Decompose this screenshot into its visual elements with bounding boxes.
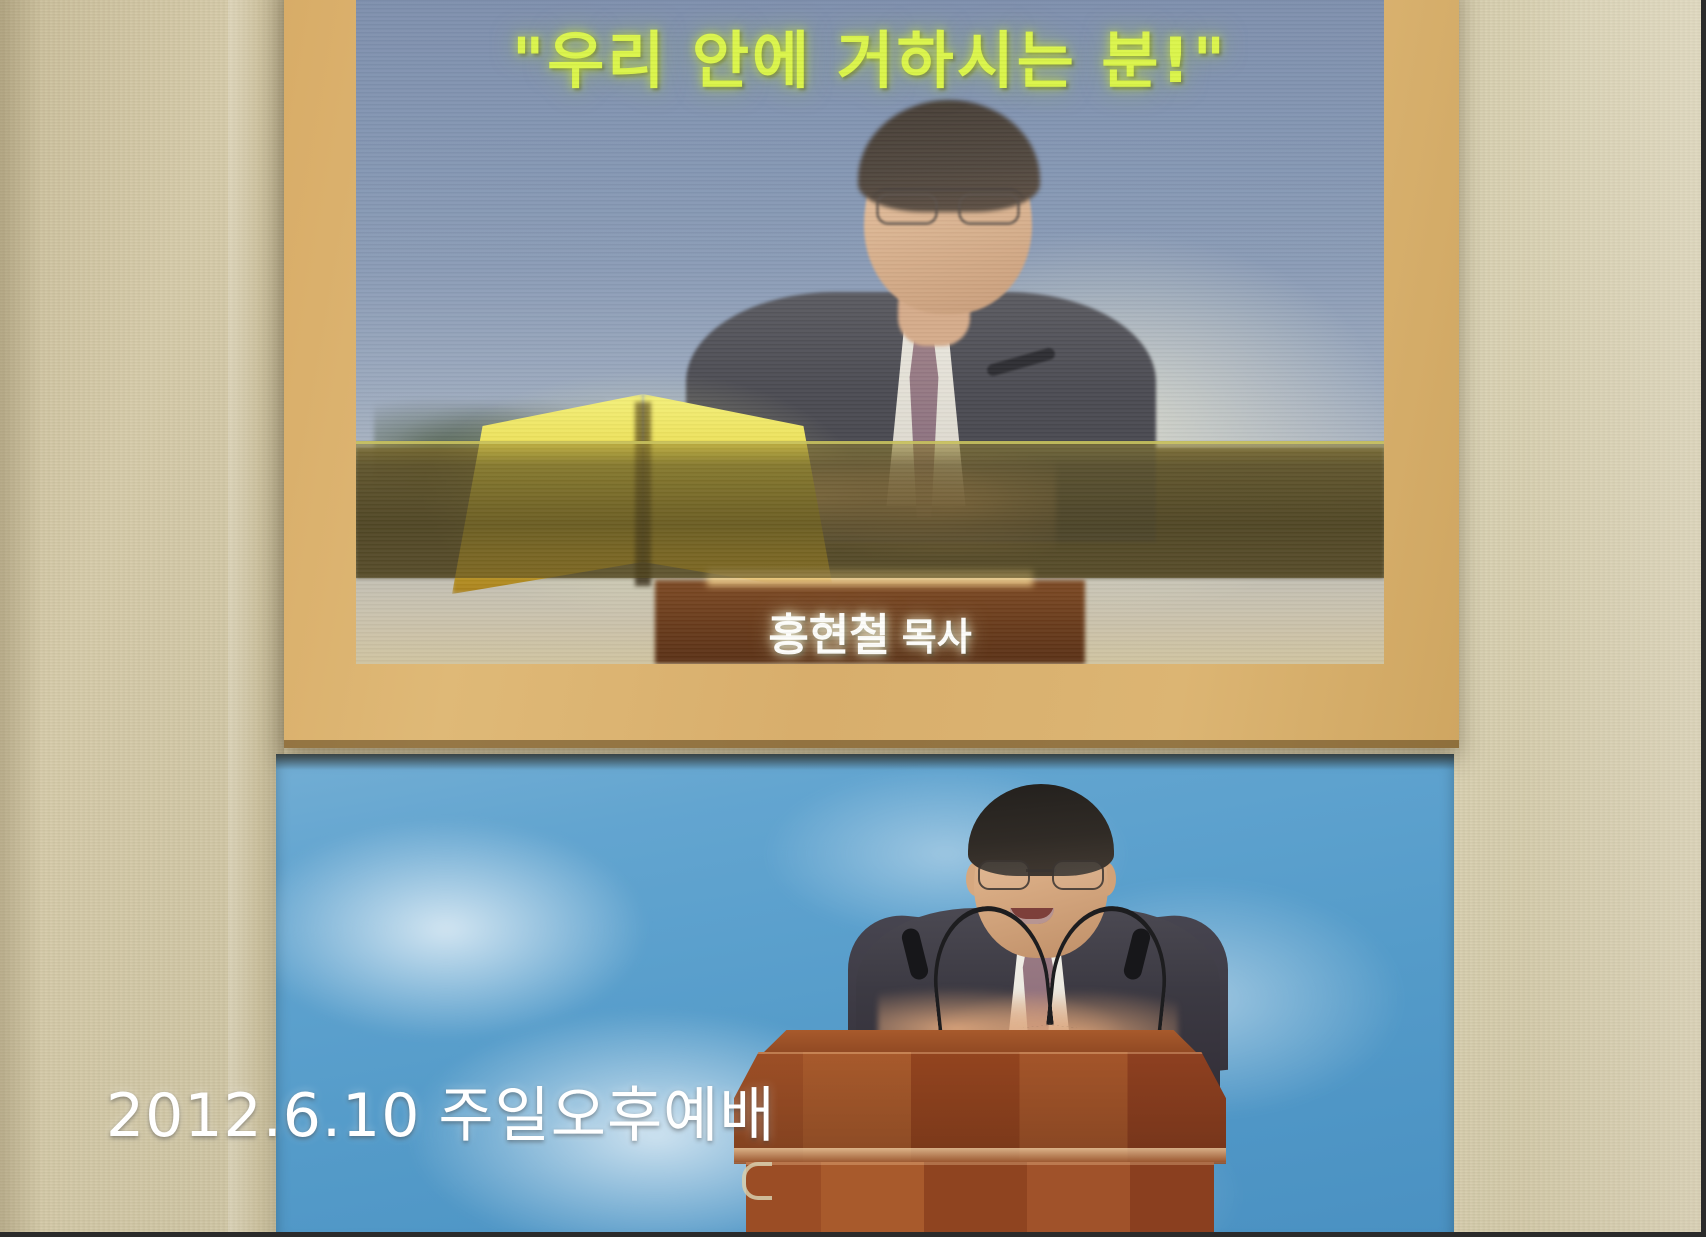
podium-side-hook (742, 1162, 772, 1200)
glasses-icon (872, 188, 1024, 221)
podium-base (746, 1162, 1214, 1237)
church-service-photo: "우리 안에 거하시는 분!" 홍현철목사 (0, 0, 1706, 1237)
projection-screen: "우리 안에 거하시는 분!" 홍현철목사 (356, 0, 1384, 664)
photo-caption: 2012.6.10주일오후예배 (106, 1086, 776, 1146)
podium-front-panel (734, 1052, 1226, 1162)
sermon-title: "우리 안에 거하시는 분!" (356, 30, 1384, 92)
projection-screen-frame: "우리 안에 거하시는 분!" 홍현철목사 (284, 0, 1459, 748)
wall-left-shadow (0, 0, 42, 1232)
wooden-podium (734, 1030, 1226, 1237)
wall-right-highlight (1521, 0, 1701, 1232)
caption-date: 2012.6.10 (106, 1081, 420, 1151)
glasses-lens-right (1052, 860, 1104, 890)
sermon-speaker: 홍현철목사 (356, 614, 1384, 658)
glasses-lens-left (978, 860, 1030, 890)
glasses-icon (978, 860, 1104, 886)
speaker-role: 목사 (902, 615, 972, 659)
speaker-name: 홍현철 (768, 610, 889, 661)
caption-event: 주일오후예배 (438, 1081, 775, 1151)
sermon-title-band (356, 441, 1384, 578)
